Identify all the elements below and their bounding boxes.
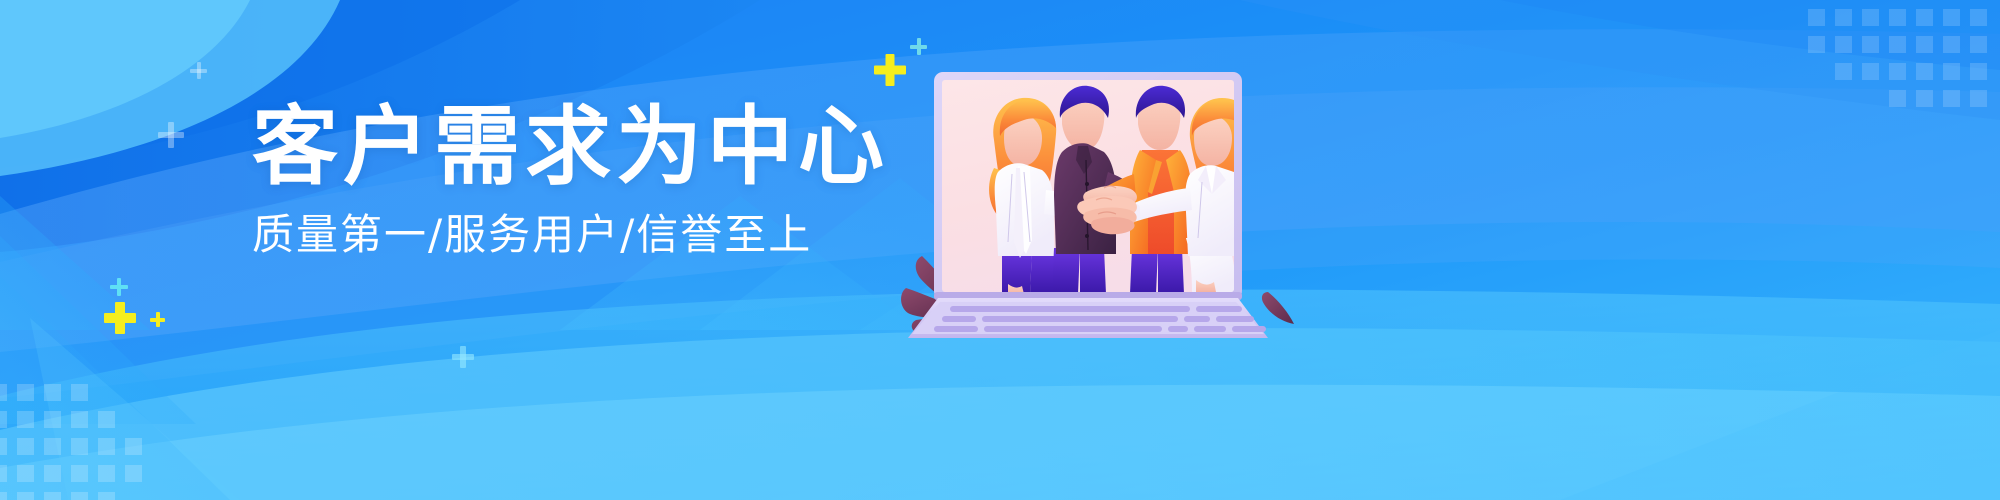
promo-banner: 客户需求为中心 质量第一/服务用户/信誉至上 [0, 0, 2000, 500]
page-title: 客户需求为中心 [252, 104, 889, 192]
leaf-decoration-right [1262, 292, 1294, 324]
page-subtitle: 质量第一/服务用户/信誉至上 [252, 192, 889, 258]
teamwork-laptop-illustration [890, 42, 1320, 342]
banner-text-block: 客户需求为中心 质量第一/服务用户/信誉至上 [252, 104, 889, 258]
